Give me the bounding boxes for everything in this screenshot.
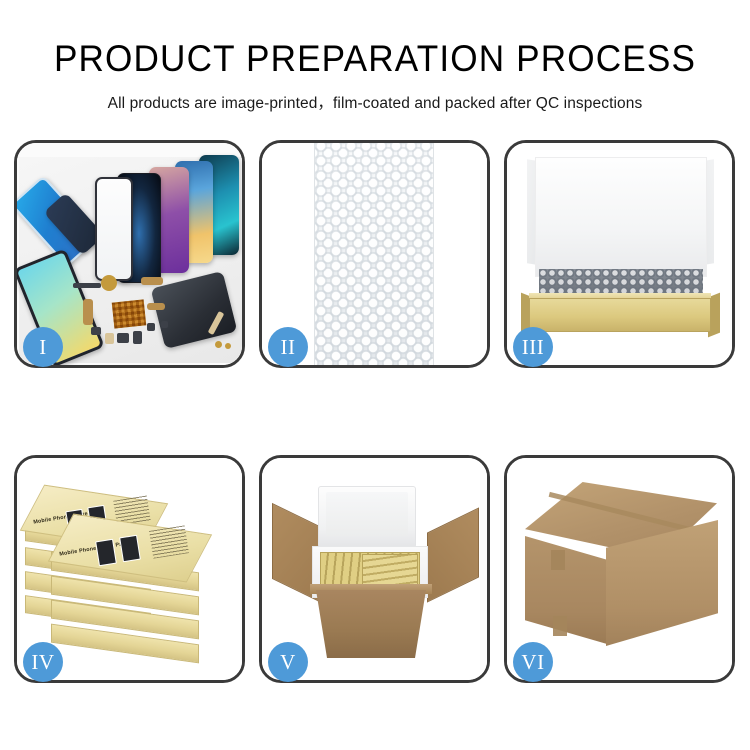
process-step-panel-3[interactable]: III xyxy=(504,140,735,368)
page-header: PRODUCT PREPARATION PROCESS All products… xyxy=(0,0,750,113)
process-step-panel-1[interactable]: I xyxy=(14,140,245,368)
process-step-grid: I II xyxy=(14,140,736,683)
process-step-panel-6[interactable]: VI xyxy=(504,455,735,683)
process-step-panel-2[interactable]: II xyxy=(259,140,490,368)
page-title: PRODUCT PREPARATION PROCESS xyxy=(19,40,732,79)
page-subtitle: All products are image-printed，film-coat… xyxy=(0,91,750,113)
process-step-panel-4[interactable]: Mobile Phone Spare Parts Mobile Phone Sp… xyxy=(14,455,245,683)
step-badge-5: V xyxy=(268,642,308,682)
step-badge-2: II xyxy=(268,327,308,367)
process-step-panel-5[interactable]: V xyxy=(259,455,490,683)
step-badge-3: III xyxy=(513,327,553,367)
step-badge-4: IV xyxy=(23,642,63,682)
step-badge-6: VI xyxy=(513,642,553,682)
step-badge-1: I xyxy=(23,327,63,367)
